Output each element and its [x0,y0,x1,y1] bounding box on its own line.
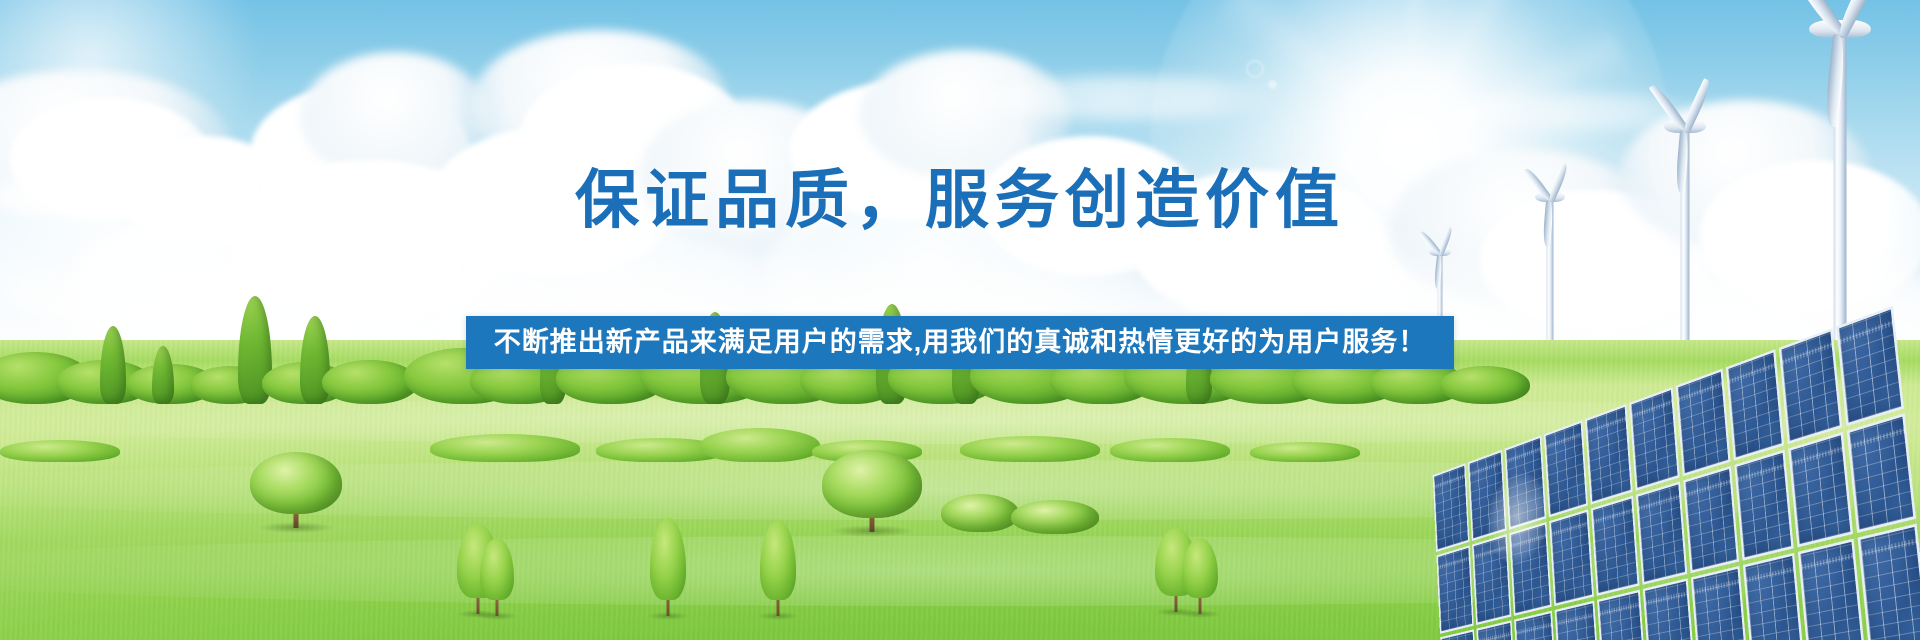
solar-panel [1743,553,1805,640]
solar-panel [1691,566,1749,640]
tree-icon [1440,366,1530,404]
solar-panel [1544,420,1588,517]
solar-panel [1846,413,1916,533]
solar-panel [1683,466,1739,573]
tree-icon [820,448,924,532]
solar-panel [1468,450,1507,541]
bush-icon [1010,494,1100,538]
solar-panel [1788,432,1852,547]
solar-panel [1798,539,1865,640]
tree-icon [248,450,344,528]
solar-panel [1642,578,1696,640]
sapling-icon [472,534,522,616]
solar-panel [1433,463,1470,552]
solar-panel [1857,524,1920,640]
solar-panel [1676,369,1730,477]
sapling-icon [640,510,696,616]
solar-panel [1597,590,1647,640]
solar-panel [1472,534,1512,625]
solar-panel [1436,545,1473,633]
solar-panel [1554,601,1601,640]
solar-panel [1514,611,1558,640]
solar-panel [1734,450,1794,561]
solar-panel [1585,404,1632,504]
hero-banner: 保证品质，服务创造价值 不断推出新产品来满足用户的需求,用我们的真诚和热情更好的… [0,0,1920,640]
lens-flare-ring [1246,60,1264,78]
solar-panel [1591,496,1639,596]
page-title: 保证品质，服务创造价值 [0,168,1920,232]
solar-panel [1509,522,1551,616]
solar-panel [1505,435,1546,529]
solar-panel [1549,509,1594,606]
sapling-icon [1174,534,1226,614]
sapling-icon [750,512,806,616]
subtitle-banner: 不断推出新产品来满足用户的需求,用我们的真诚和热情更好的为用户服务！ [466,316,1455,369]
solar-panel [1636,481,1688,585]
subtitle-container: 不断推出新产品来满足用户的需求,用我们的真诚和热情更好的为用户服务！ [0,316,1920,369]
bush-icon [940,486,1020,536]
lens-flare-dot [1268,80,1277,89]
solar-panel [1629,387,1680,491]
